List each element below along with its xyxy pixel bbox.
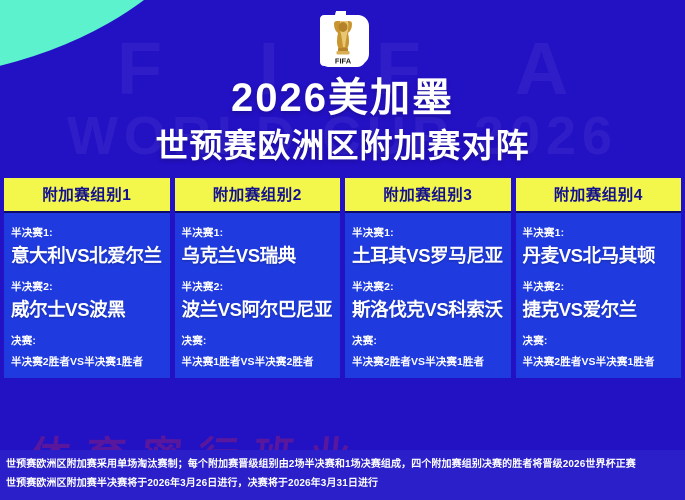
final-label: 决赛: <box>182 333 334 348</box>
group-header-3: 附加赛组别3 <box>345 178 511 213</box>
group-3-semifinal-1-match: 土耳其VS罗马尼亚 <box>352 245 504 266</box>
poster-root: F I F A WORLD CUP 2026 FIFA <box>0 0 685 500</box>
group-2-final-match: 半决赛1胜者VS半决赛2胜者 <box>182 354 334 369</box>
semifinal-2-label: 半决赛2: <box>182 279 334 294</box>
group-1-semifinal-2-match: 威尔士VS波黑 <box>11 299 163 320</box>
poster-header: FIFA 2026美加墨 世预赛欧洲区附加赛对阵 <box>0 0 685 166</box>
group-column-2[interactable]: 附加赛组别2 半决赛1: 乌克兰VS瑞典 半决赛2: 波兰VS阿尔巴尼亚 决赛:… <box>175 178 341 379</box>
groups-grid: 附加赛组别1 半决赛1: 意大利VS北爱尔兰 半决赛2: 威尔士VS波黑 决赛:… <box>0 178 685 379</box>
group-body-4: 半决赛1: 丹麦VS北马其顿 半决赛2: 捷克VS爱尔兰 决赛: 半决赛2胜者V… <box>516 213 682 379</box>
semifinal-1-label: 半决赛1: <box>11 225 163 240</box>
footer-line-1: 世预赛欧洲区附加赛采用单场淘汰赛制；每个附加赛晋级组别由2场半决赛和1场决赛组成… <box>6 455 679 474</box>
page-subtitle: 世预赛欧洲区附加赛对阵 <box>0 127 685 166</box>
semifinal-2-label: 半决赛2: <box>523 279 675 294</box>
group-body-2: 半决赛1: 乌克兰VS瑞典 半决赛2: 波兰VS阿尔巴尼亚 决赛: 半决赛1胜者… <box>175 213 341 379</box>
group-header-2: 附加赛组别2 <box>175 178 341 213</box>
footer-notes: 世预赛欧洲区附加赛采用单场淘汰赛制；每个附加赛晋级组别由2场半决赛和1场决赛组成… <box>0 450 685 500</box>
group-3-semifinal-2-match: 斯洛伐克VS科索沃 <box>352 299 504 320</box>
group-1-semifinal-1-match: 意大利VS北爱尔兰 <box>11 245 163 266</box>
group-column-3[interactable]: 附加赛组别3 半决赛1: 土耳其VS罗马尼亚 半决赛2: 斯洛伐克VS科索沃 决… <box>345 178 511 379</box>
semifinal-1-label: 半决赛1: <box>182 225 334 240</box>
footer-line-2: 世预赛欧洲区附加赛半决赛将于2026年3月26日进行，决赛将于2026年3月31… <box>6 474 679 493</box>
group-4-semifinal-2-match: 捷克VS爱尔兰 <box>523 299 675 320</box>
group-body-3: 半决赛1: 土耳其VS罗马尼亚 半决赛2: 斯洛伐克VS科索沃 决赛: 半决赛2… <box>345 213 511 379</box>
final-label: 决赛: <box>352 333 504 348</box>
group-4-final-match: 半决赛2胜者VS半决赛1胜者 <box>523 354 675 369</box>
semifinal-1-label: 半决赛1: <box>523 225 675 240</box>
fifa-world-cup-26-logo-icon: FIFA <box>316 11 370 71</box>
final-label: 决赛: <box>523 333 675 348</box>
group-body-1: 半决赛1: 意大利VS北爱尔兰 半决赛2: 威尔士VS波黑 决赛: 半决赛2胜者… <box>4 213 170 379</box>
group-4-semifinal-1-match: 丹麦VS北马其顿 <box>523 245 675 266</box>
page-title: 2026美加墨 <box>0 76 685 121</box>
fifa-logo-brand-text: FIFA <box>334 57 351 66</box>
group-1-final-match: 半决赛2胜者VS半决赛1胜者 <box>11 354 163 369</box>
group-header-1: 附加赛组别1 <box>4 178 170 213</box>
semifinal-2-label: 半决赛2: <box>11 279 163 294</box>
logo-container: FIFA <box>0 8 685 74</box>
group-column-4[interactable]: 附加赛组别4 半决赛1: 丹麦VS北马其顿 半决赛2: 捷克VS爱尔兰 决赛: … <box>516 178 682 379</box>
semifinal-2-label: 半决赛2: <box>352 279 504 294</box>
group-3-final-match: 半决赛2胜者VS半决赛1胜者 <box>352 354 504 369</box>
group-2-semifinal-1-match: 乌克兰VS瑞典 <box>182 245 334 266</box>
semifinal-1-label: 半决赛1: <box>352 225 504 240</box>
final-label: 决赛: <box>11 333 163 348</box>
group-header-4: 附加赛组别4 <box>516 178 682 213</box>
group-column-1[interactable]: 附加赛组别1 半决赛1: 意大利VS北爱尔兰 半决赛2: 威尔士VS波黑 决赛:… <box>4 178 170 379</box>
group-2-semifinal-2-match: 波兰VS阿尔巴尼亚 <box>182 299 334 320</box>
